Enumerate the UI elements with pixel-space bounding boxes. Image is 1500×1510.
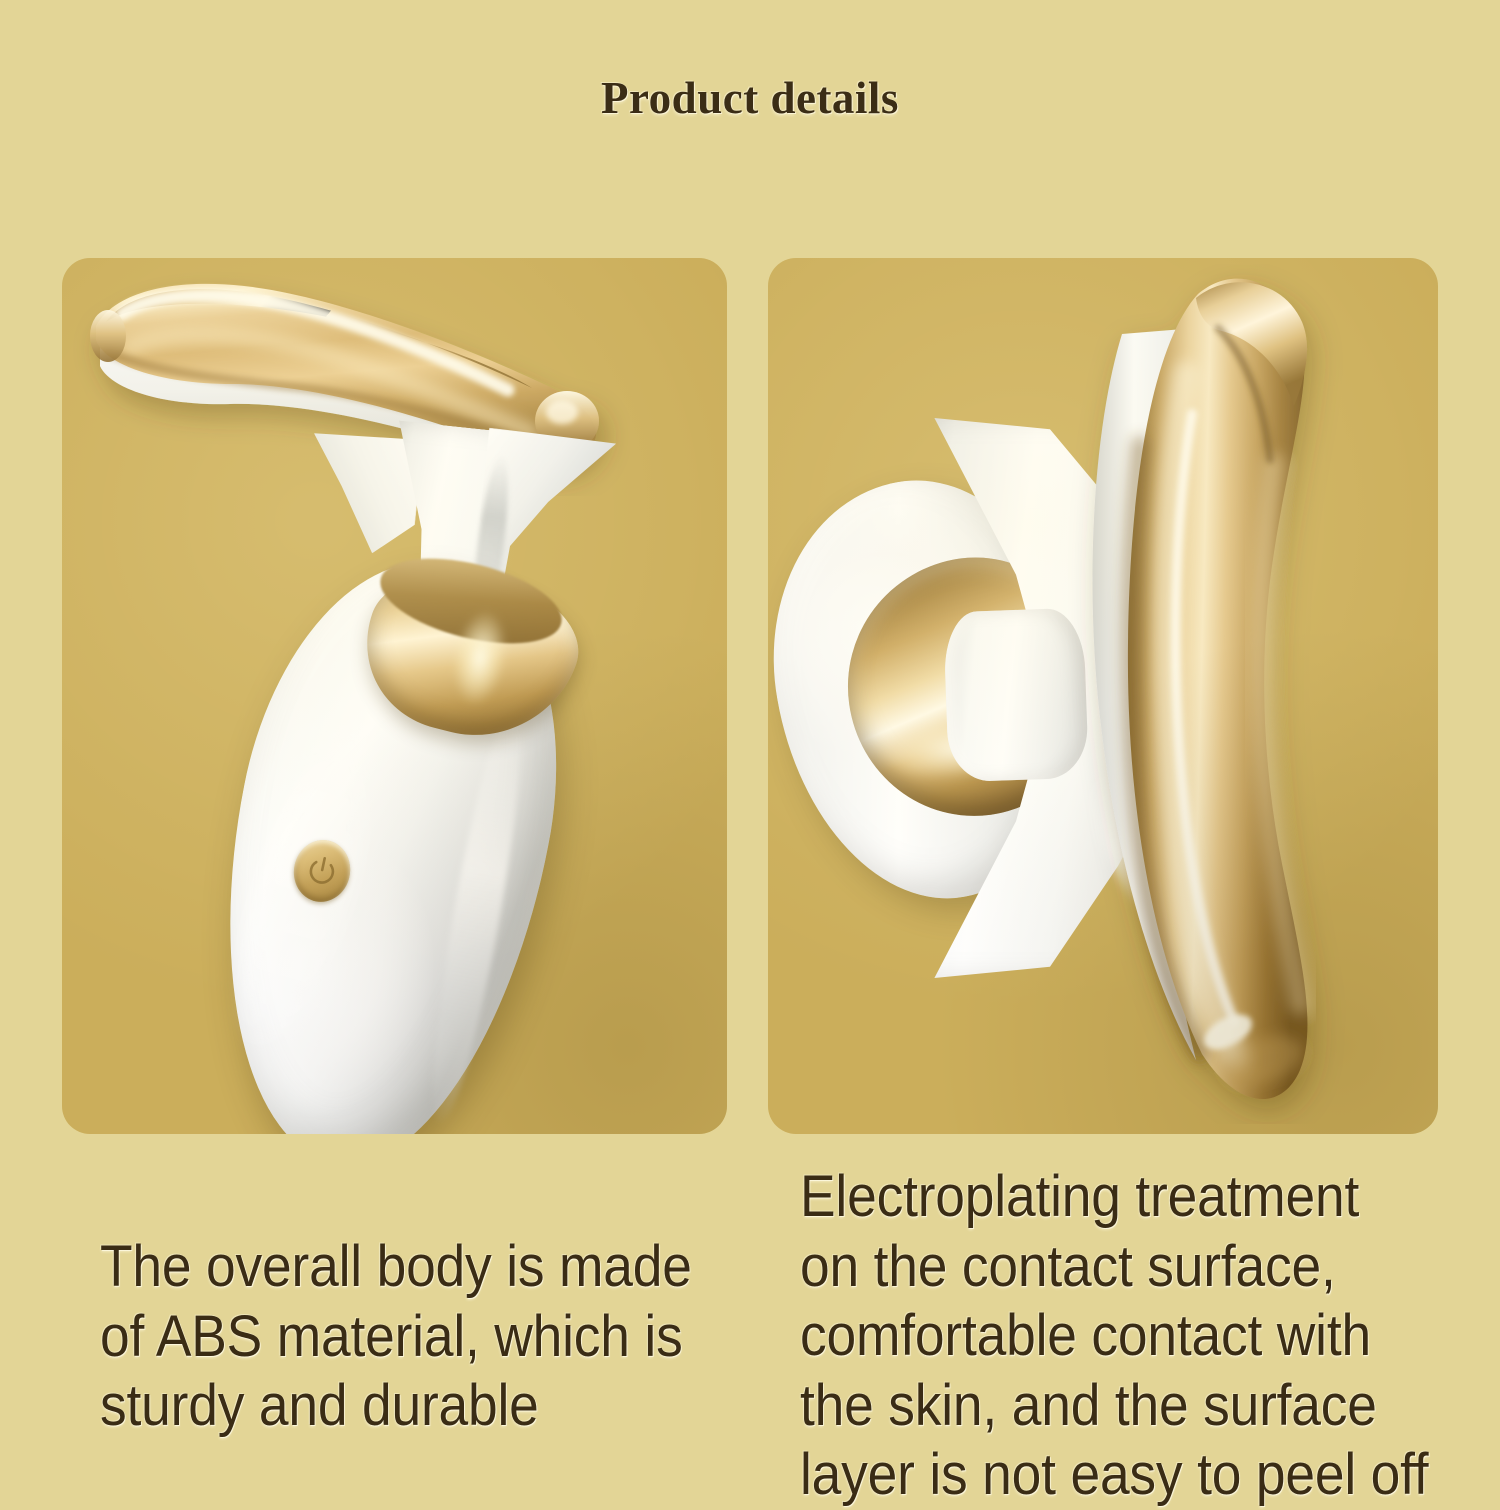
gold-contact-head-icon — [1068, 264, 1368, 1124]
caption-left: The overall body is made of ABS material… — [100, 1232, 799, 1441]
caption-right: Electroplating treatment on the contact … — [800, 1162, 1499, 1510]
page-title: Product details — [0, 72, 1500, 124]
product-image-panel-left — [62, 258, 727, 1134]
caption-left-line-2: of ABS material, which is — [100, 1302, 799, 1372]
caption-right-line-1: Electroplating treatment — [800, 1162, 1499, 1232]
caption-right-line-4: the skin, and the surface — [800, 1371, 1499, 1441]
device-illustration-three-quarter-view — [62, 258, 727, 1134]
caption-right-line-2: on the contact surface, — [800, 1232, 1499, 1302]
device-illustration-front-side-view — [768, 258, 1438, 1134]
product-image-panel-right — [768, 258, 1438, 1134]
power-icon — [304, 852, 340, 890]
product-detail-panels — [62, 258, 1438, 1134]
caption-left-line-3: sturdy and durable — [100, 1371, 799, 1441]
caption-right-line-3: comfortable contact with — [800, 1301, 1499, 1371]
caption-left-line-1: The overall body is made — [100, 1232, 799, 1302]
